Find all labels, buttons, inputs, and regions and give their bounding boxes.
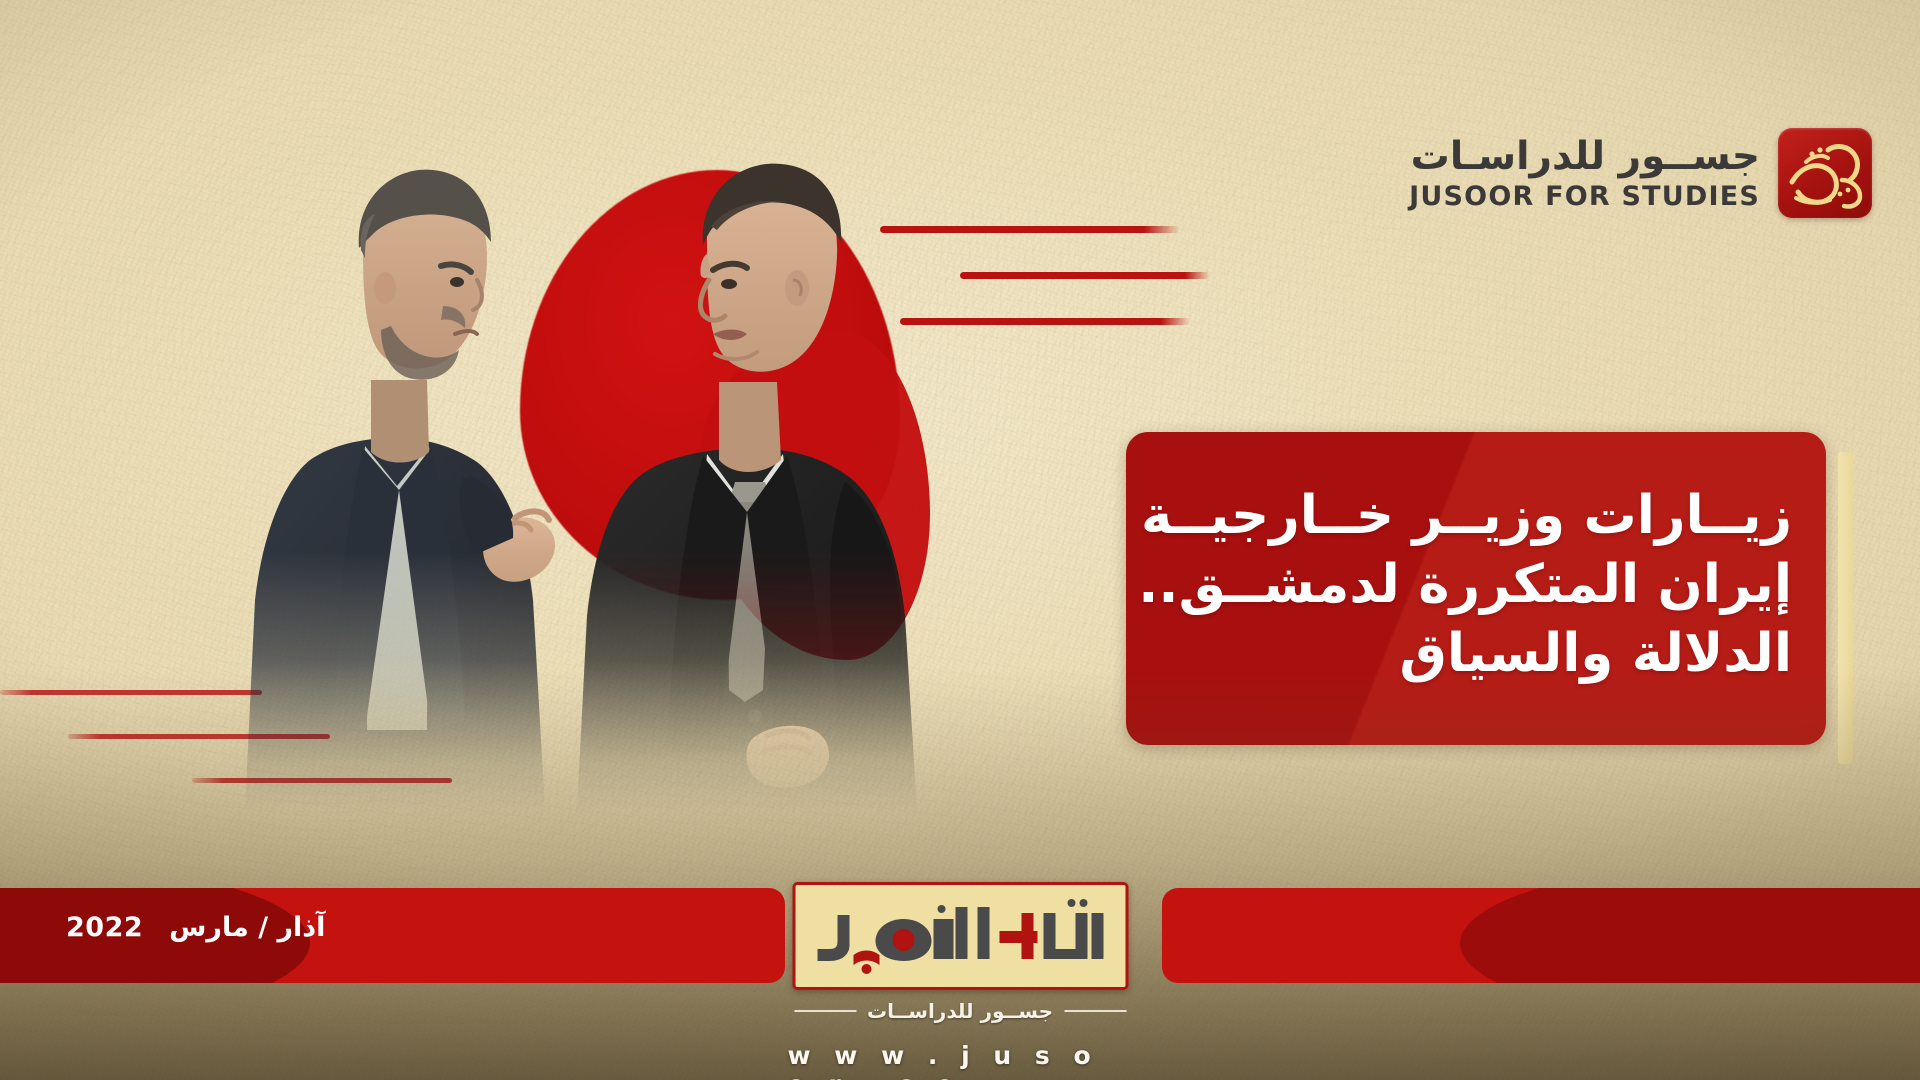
program-sub-line: جســور للدراســات xyxy=(792,999,1128,1023)
footer-right-red-bar xyxy=(1162,888,1920,983)
footer-right-dark-wedge xyxy=(1460,888,1920,983)
infographic-card: جســور للدراسـات JUSOOR FOR STUDIES xyxy=(0,0,1920,1080)
sub-rule-right xyxy=(1064,1010,1126,1012)
program-sub-text: جســور للدراســات xyxy=(867,999,1053,1023)
taht-almijhar-logo-box xyxy=(792,882,1128,990)
website-url[interactable]: w w w . j u s o o r . c o xyxy=(788,1041,1133,1080)
publication-date: آذار / مارس 2022 xyxy=(66,912,325,943)
sub-rule-left xyxy=(794,1010,856,1012)
program-logo-block[interactable]: جســور للدراســات w w w . j u s o o r . … xyxy=(788,882,1133,1080)
taht-almijhar-wordmark-icon xyxy=(808,893,1113,979)
footer-bar: آذار / مارس 2022 xyxy=(0,860,1920,1080)
date-month-label: آذار / مارس xyxy=(169,912,325,943)
date-year-label: 2022 xyxy=(66,912,143,943)
